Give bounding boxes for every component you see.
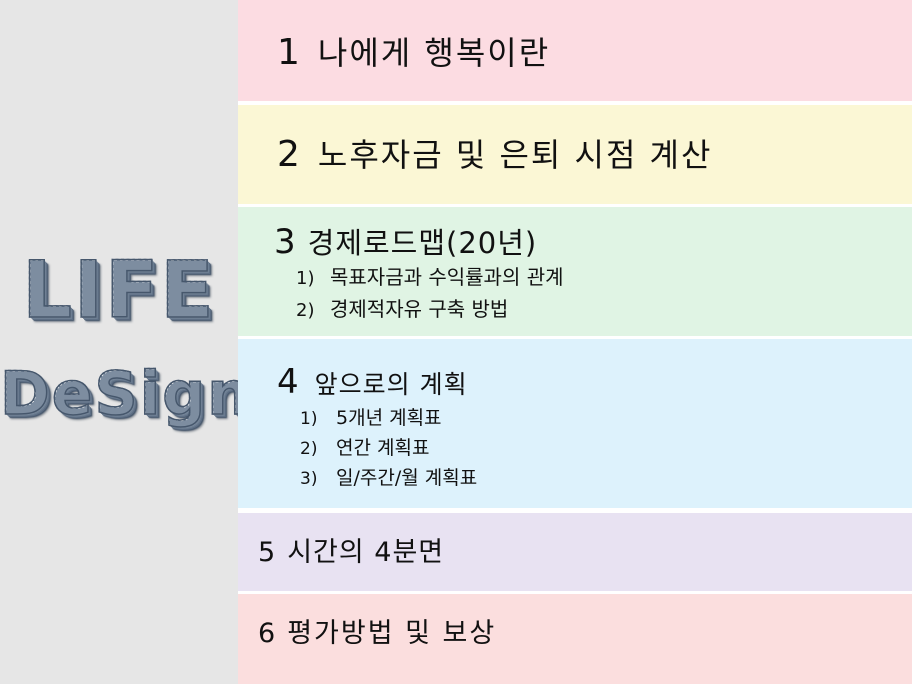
agenda-item-3-number: 3 [274,222,296,262]
agenda-item-6-number: 6 [258,618,275,649]
sub-text: 일/주간/월 계획표 [336,464,477,493]
agenda-item-5[interactable]: 5 시간의 4분면 [258,530,444,569]
sub-marker: 2) [296,296,330,326]
agenda-item-4-subitems: 1) 5개년 계획표 2) 연간 계획표 3) 일/주간/월 계획표 [300,404,477,494]
agenda-item-1-number: 1 [277,32,300,73]
agenda-list: 1 나에게 행복이란 2 노후자금 및 은퇴 시점 계산 3 경제로드맵(20년… [238,0,912,684]
list-item[interactable]: 1) 목표자금과 수익률과의 관계 [296,262,564,294]
agenda-item-6-title: 평가방법 및 보상 [287,611,496,650]
agenda-item-2-title: 노후자금 및 은퇴 시점 계산 [318,130,713,176]
presentation-slide: LIFE DeSign 1 나에게 행복이란 2 노후자금 및 은퇴 시점 계산… [0,0,912,684]
agenda-item-6[interactable]: 6 평가방법 및 보상 [258,611,496,650]
agenda-item-2-number: 2 [277,134,300,175]
logo-text-life: LIFE [0,252,238,330]
agenda-item-3-subitems: 1) 목표자금과 수익률과의 관계 2) 경제적자유 구축 방법 [296,262,564,326]
agenda-item-1[interactable]: 1 나에게 행복이란 [277,28,550,74]
agenda-item-1-title: 나에게 행복이란 [318,28,550,74]
agenda-item-3-title: 경제로드맵(20년) [308,220,538,262]
sub-marker: 1) [300,405,336,434]
agenda-item-2[interactable]: 2 노후자금 및 은퇴 시점 계산 [277,130,712,176]
sub-marker: 2) [300,435,336,464]
list-item[interactable]: 1) 5개년 계획표 [300,404,477,434]
list-item[interactable]: 2) 경제적자유 구축 방법 [296,294,564,326]
sub-text: 연간 계획표 [336,434,429,463]
sub-marker: 3) [300,465,336,494]
list-item[interactable]: 3) 일/주간/월 계획표 [300,464,477,494]
sub-text: 경제적자유 구축 방법 [330,294,508,324]
logo-text-design: DeSign [0,364,238,424]
agenda-item-5-number: 5 [258,537,275,568]
sub-marker: 1) [296,264,330,294]
brand-logo: LIFE DeSign [0,252,238,424]
agenda-item-4-number: 4 [277,362,299,402]
agenda-item-4-title: 앞으로의 계획 [315,365,468,401]
sidebar-logo-panel: LIFE DeSign [0,0,238,684]
agenda-item-4[interactable]: 4 앞으로의 계획 [277,362,468,402]
list-item[interactable]: 2) 연간 계획표 [300,434,477,464]
sub-text: 5개년 계획표 [336,404,442,433]
agenda-item-5-title: 시간의 4분면 [287,530,444,569]
sub-text: 목표자금과 수익률과의 관계 [330,262,564,292]
agenda-item-3[interactable]: 3 경제로드맵(20년) [274,220,537,262]
